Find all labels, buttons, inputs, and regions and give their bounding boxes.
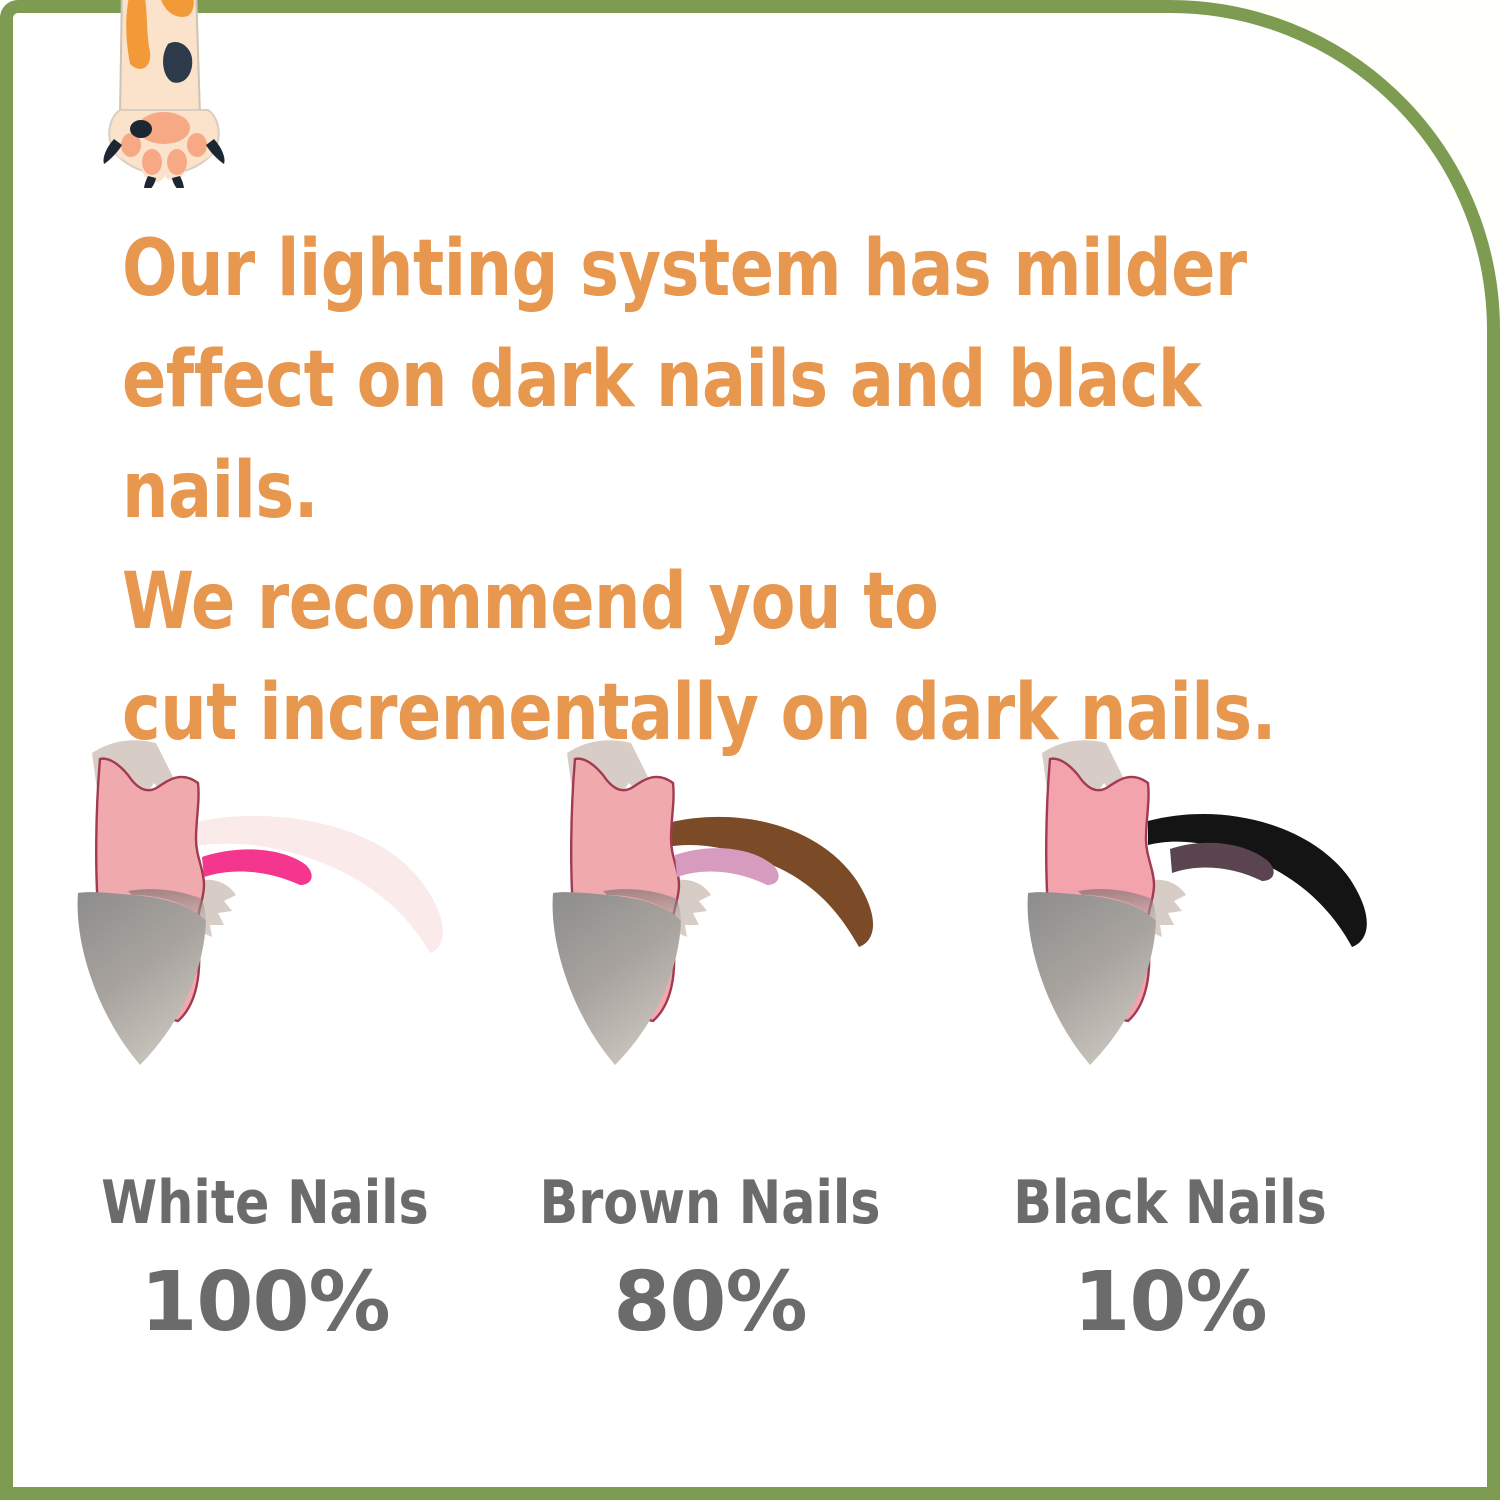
nail-captions: White Nails 100% Brown Nails 80% Black N…	[0, 1170, 1500, 1390]
brown-nail-illustration	[545, 735, 945, 1105]
caption-brown-nails: Brown Nails 80%	[490, 1170, 930, 1348]
nail-illustrations	[0, 735, 1500, 1105]
brown-nails-percent: 80%	[490, 1258, 930, 1348]
white-nails-percent: 100%	[45, 1258, 485, 1348]
black-nails-label: Black Nails	[963, 1170, 1377, 1236]
page-title: Our lighting system has milder effect on…	[122, 214, 1322, 769]
white-nails-label: White Nails	[58, 1170, 472, 1236]
caption-white-nails: White Nails 100%	[45, 1170, 485, 1348]
black-nails-percent: 10%	[950, 1258, 1390, 1348]
white-nail-illustration	[70, 735, 470, 1105]
caption-black-nails: Black Nails 10%	[950, 1170, 1390, 1348]
infographic-card: Our lighting system has milder effect on…	[0, 0, 1500, 1500]
black-nail-illustration	[1020, 735, 1420, 1105]
cat-paw-icon	[100, 0, 228, 188]
brown-nails-label: Brown Nails	[503, 1170, 917, 1236]
